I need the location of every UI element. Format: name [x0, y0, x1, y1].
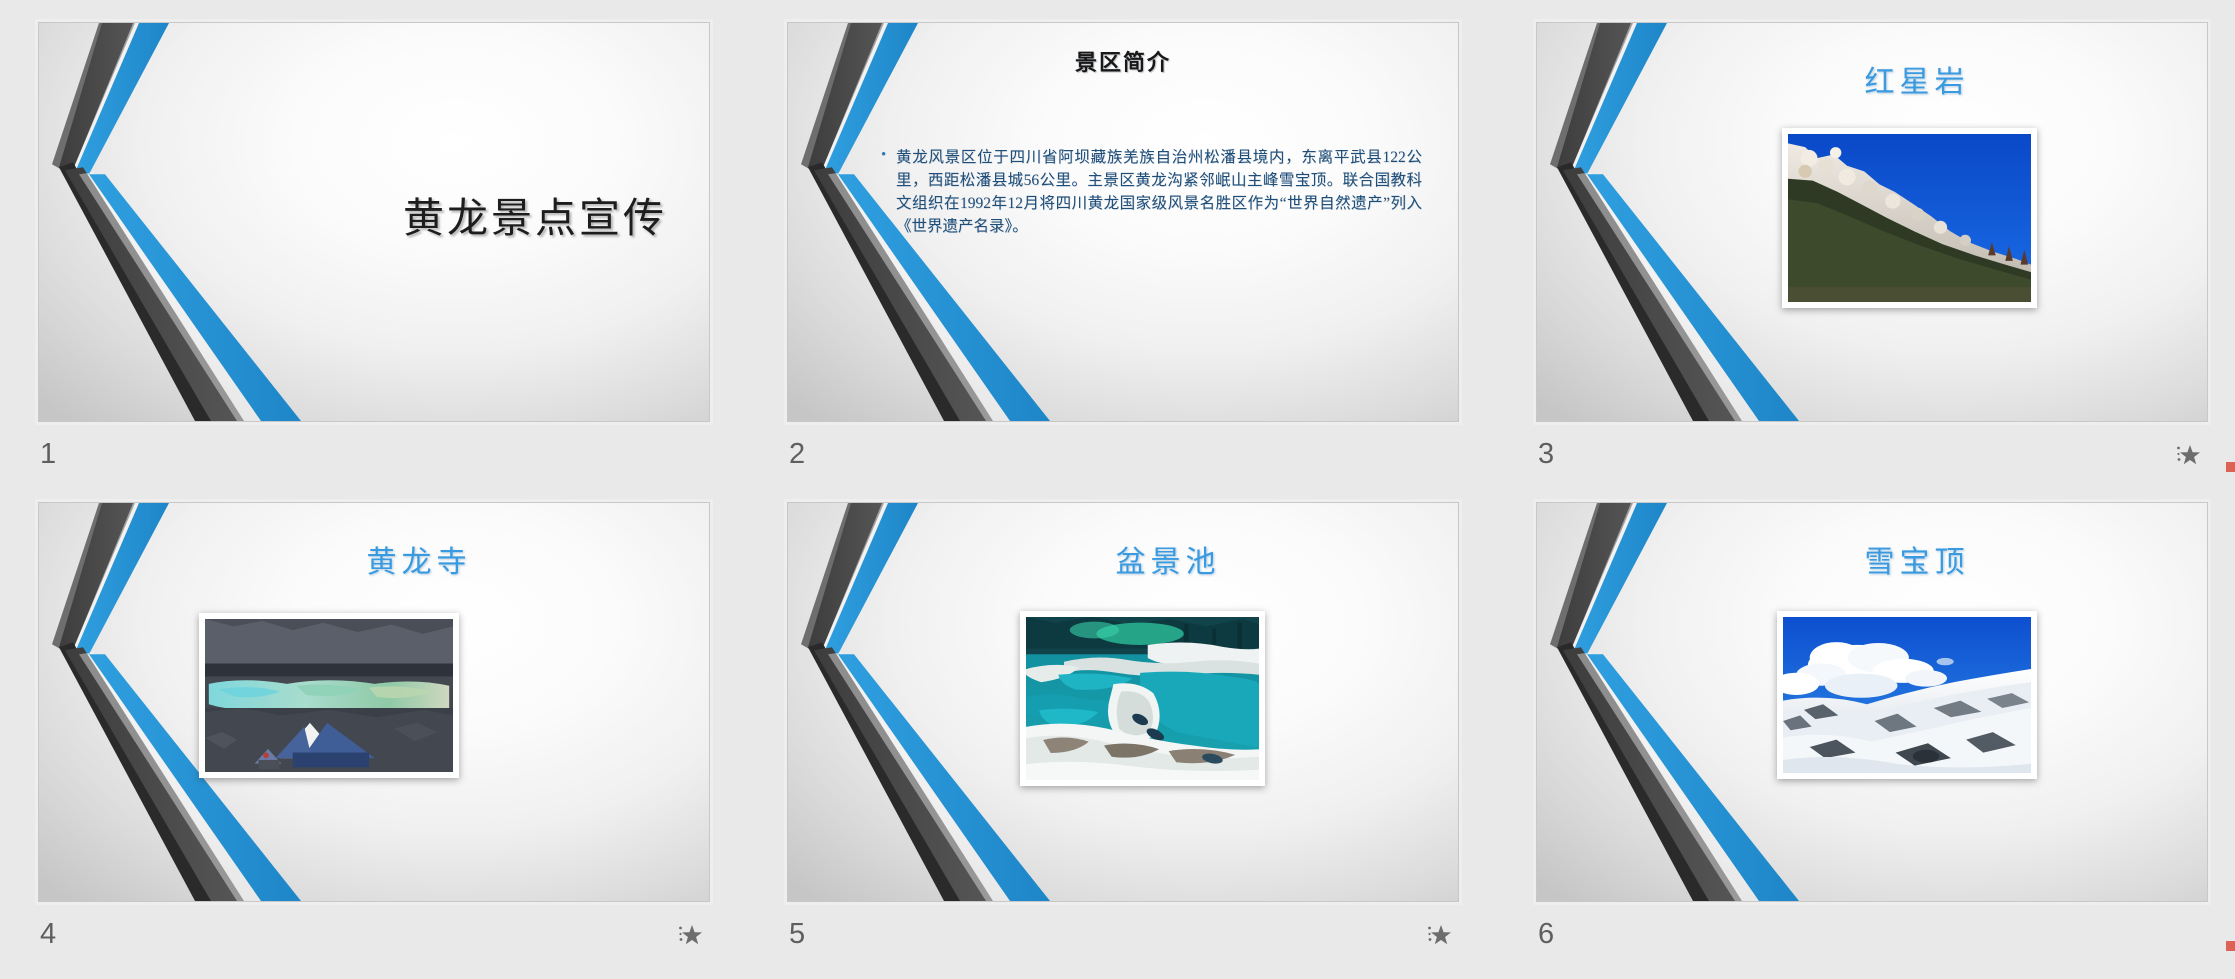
slide-cell-6[interactable]: 雪宝顶 — [1536, 502, 2208, 972]
slide-title: 雪宝顶 — [1657, 537, 2177, 581]
slide-number: 6 — [1538, 920, 1554, 949]
slide-title: 黄龙寺 — [159, 537, 679, 581]
animation-star-icon[interactable] — [676, 921, 702, 947]
animation-star-icon[interactable] — [2174, 441, 2200, 467]
slide-number: 1 — [40, 440, 56, 469]
slide-number: 3 — [1538, 440, 1554, 469]
body-paragraph: 黄龙风景区位于四川省阿坝藏族羌族自治州松潘县境内，东离平武县122公里，西距松潘… — [896, 147, 1422, 239]
slide-photo — [1782, 128, 2037, 308]
bullet-glyph: • — [881, 148, 886, 163]
slide-footer-4: 4 — [38, 908, 710, 960]
slide-title: 景区简介 — [788, 45, 1458, 77]
slide-footer-3: 3 — [1536, 428, 2208, 480]
slide-photo — [199, 613, 459, 778]
slide-grid: 黄龙景点宣传 1 — [38, 22, 2235, 972]
slide-cell-1[interactable]: 黄龙景点宣传 1 — [38, 22, 710, 492]
animation-star-icon[interactable] — [1425, 921, 1451, 947]
slide-thumbnail-6[interactable]: 雪宝顶 — [1536, 502, 2208, 902]
slide-thumbnail-4[interactable]: 黄龙寺 — [38, 502, 710, 902]
slide-number: 2 — [789, 440, 805, 469]
slide-footer-5: 5 — [787, 908, 1459, 960]
slide-photo — [1777, 611, 2037, 779]
slide-footer-2: 2 — [787, 428, 1459, 480]
slide-cell-4[interactable]: 黄龙寺 — [38, 502, 710, 972]
slide-number: 4 — [40, 920, 56, 949]
slide-photo — [1020, 611, 1265, 786]
slide-cell-5[interactable]: 盆景池 — [787, 502, 1459, 972]
slide-body-text: • 黄龙风景区位于四川省阿坝藏族羌族自治州松潘县境内，东离平武县122公里，西距… — [896, 147, 1422, 239]
edge-marker-bottom — [2226, 941, 2235, 951]
slide-sorter-pane: 黄龙景点宣传 1 — [0, 0, 2235, 979]
edge-marker-top — [2226, 462, 2235, 472]
slide-title: 黄龙景点宣传 — [403, 184, 667, 244]
slide-thumbnail-3[interactable]: 红星岩 — [1536, 22, 2208, 422]
slide-title: 红星岩 — [1657, 57, 2177, 101]
slide-footer-6: 6 — [1536, 908, 2208, 960]
slide-title: 盆景池 — [908, 537, 1428, 581]
slide-thumbnail-5[interactable]: 盆景池 — [787, 502, 1459, 902]
slide-cell-3[interactable]: 红星岩 — [1536, 22, 2208, 492]
slide-thumbnail-1[interactable]: 黄龙景点宣传 — [38, 22, 710, 422]
slide-footer-1: 1 — [38, 428, 710, 480]
slide-thumbnail-2[interactable]: 景区简介 • 黄龙风景区位于四川省阿坝藏族羌族自治州松潘县境内，东离平武县122… — [787, 22, 1459, 422]
slide-cell-2[interactable]: 景区简介 • 黄龙风景区位于四川省阿坝藏族羌族自治州松潘县境内，东离平武县122… — [787, 22, 1459, 492]
slide-number: 5 — [789, 920, 805, 949]
